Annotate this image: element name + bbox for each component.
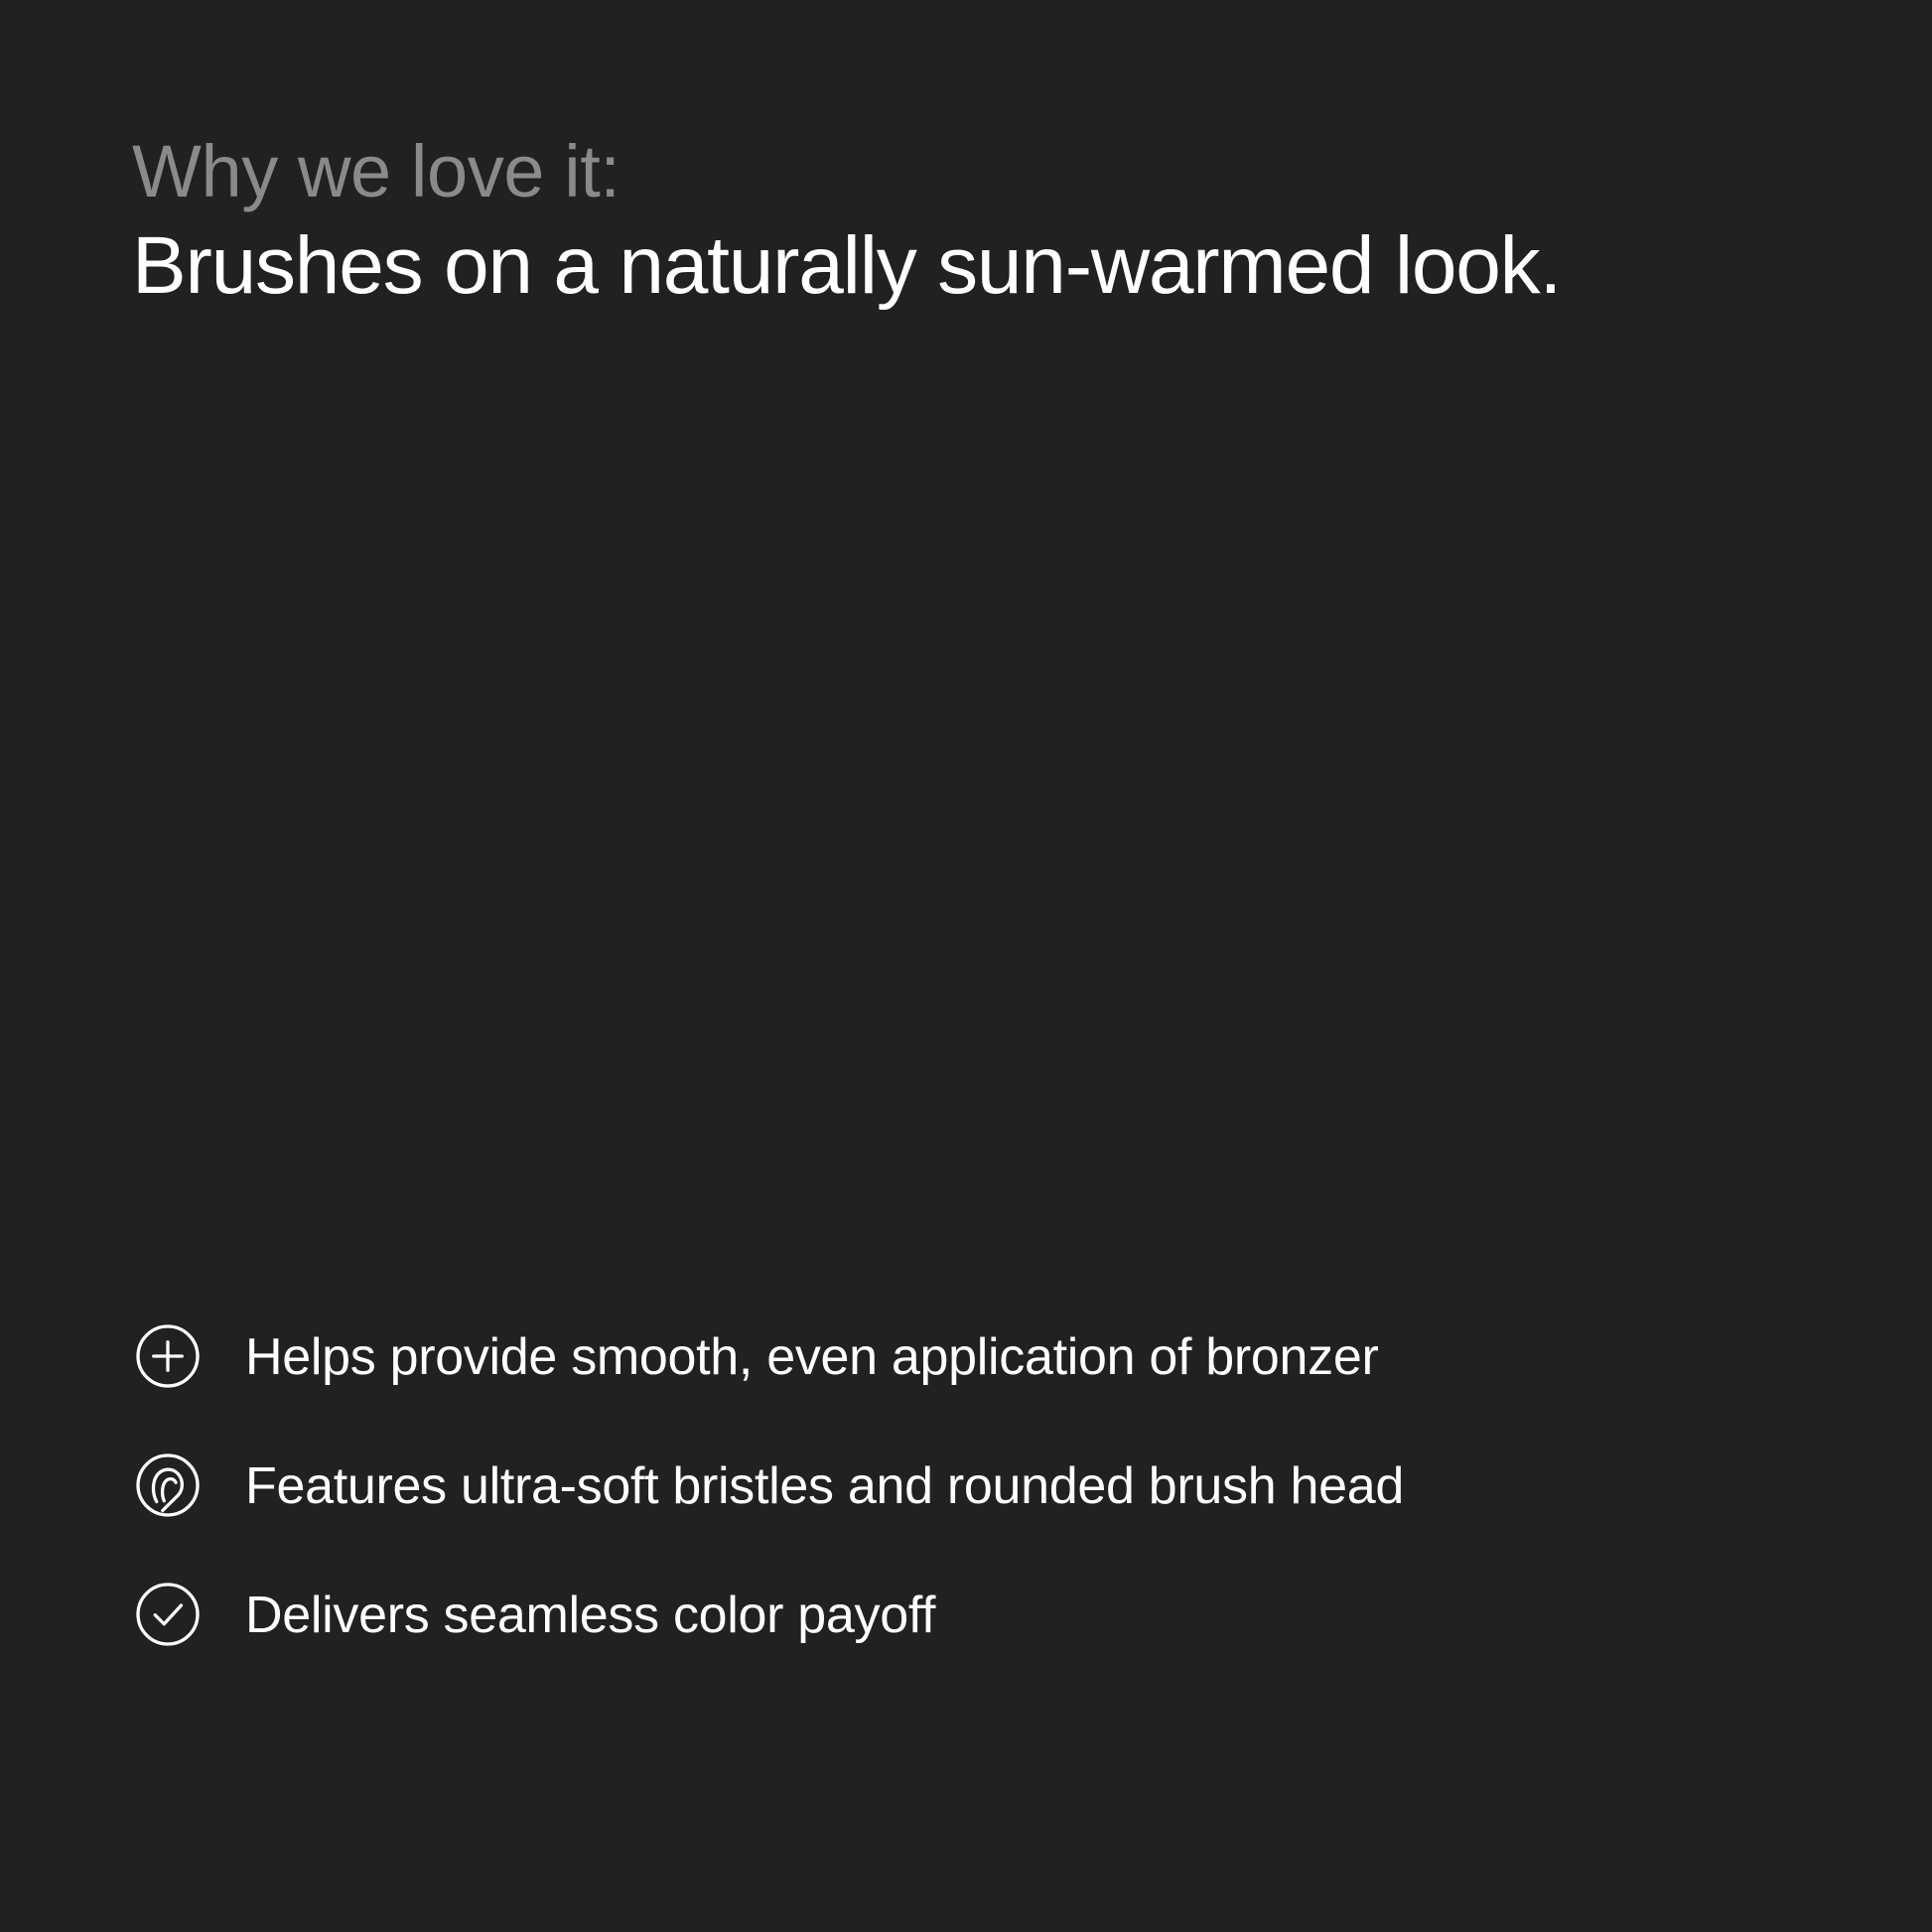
eyebrow-label: Why we love it: [132, 127, 1820, 216]
heading-block: Why we love it: Brushes on a naturally s… [132, 127, 1820, 316]
list-item: Features ultra-soft bristles and rounded… [132, 1449, 1840, 1521]
circle-check-icon [132, 1579, 204, 1650]
circle-plus-icon [132, 1320, 204, 1392]
page-title: Brushes on a naturally sun-warmed look. [132, 216, 1820, 316]
list-item: Delivers seamless color payoff [132, 1579, 1840, 1650]
benefits-list: Helps provide smooth, even application o… [132, 1320, 1840, 1650]
circle-fingerprint-icon [132, 1449, 204, 1521]
list-item-label: Features ultra-soft bristles and rounded… [245, 1449, 1404, 1521]
list-item: Helps provide smooth, even application o… [132, 1320, 1840, 1392]
list-item-label: Delivers seamless color payoff [245, 1579, 935, 1650]
list-item-label: Helps provide smooth, even application o… [245, 1320, 1379, 1392]
why-we-love-it-panel: Why we love it: Brushes on a naturally s… [0, 0, 1932, 1932]
